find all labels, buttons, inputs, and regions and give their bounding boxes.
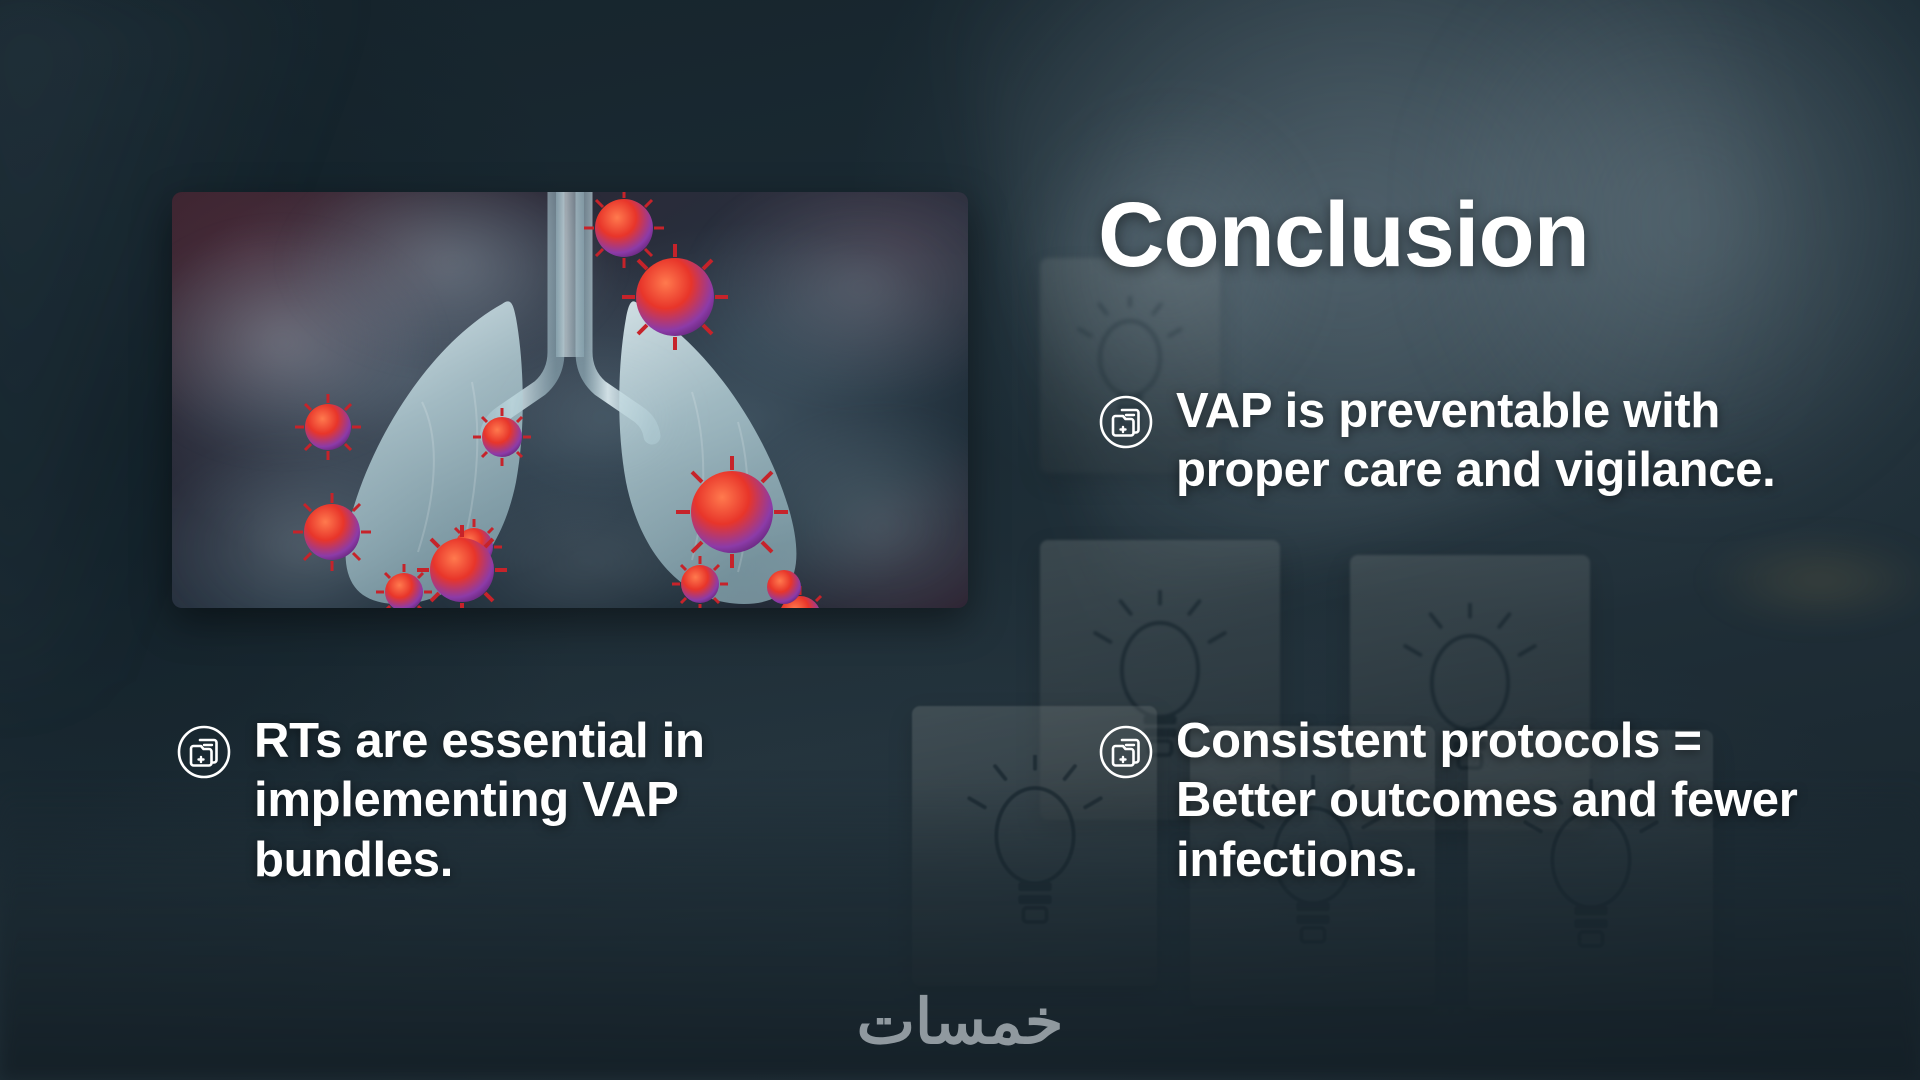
watermark-khamsat: خمسات <box>0 985 1920 1058</box>
bullet-text: VAP is preventable with proper care and … <box>1176 382 1788 501</box>
background-warm-highlight <box>1710 540 1920 620</box>
virus-particle <box>295 394 361 460</box>
bullet-vap-preventable: VAP is preventable with proper care and … <box>1098 382 1788 501</box>
bullet-consistent-protocols: Consistent protocols = Better outcomes a… <box>1098 712 1798 890</box>
lungs-image-card <box>172 192 968 608</box>
document-plus-circle-icon <box>1098 394 1154 450</box>
bullet-rts-essential: RTs are essential in implementing VAP bu… <box>176 712 836 890</box>
virus-particle <box>584 192 664 268</box>
slide-title: Conclusion <box>1098 186 1589 285</box>
bullet-text: Consistent protocols = Better outcomes a… <box>1176 712 1798 890</box>
document-plus-circle-icon <box>1098 724 1154 780</box>
document-plus-circle-icon <box>176 724 232 780</box>
virus-particle <box>676 456 788 568</box>
presentation-slide: Conclusion VAP is preventable with prope… <box>0 0 1920 1080</box>
smoke-wisp <box>502 342 702 492</box>
virus-particle <box>293 493 371 571</box>
virus-particle <box>767 570 801 604</box>
bullet-text: RTs are essential in implementing VAP bu… <box>254 712 836 890</box>
